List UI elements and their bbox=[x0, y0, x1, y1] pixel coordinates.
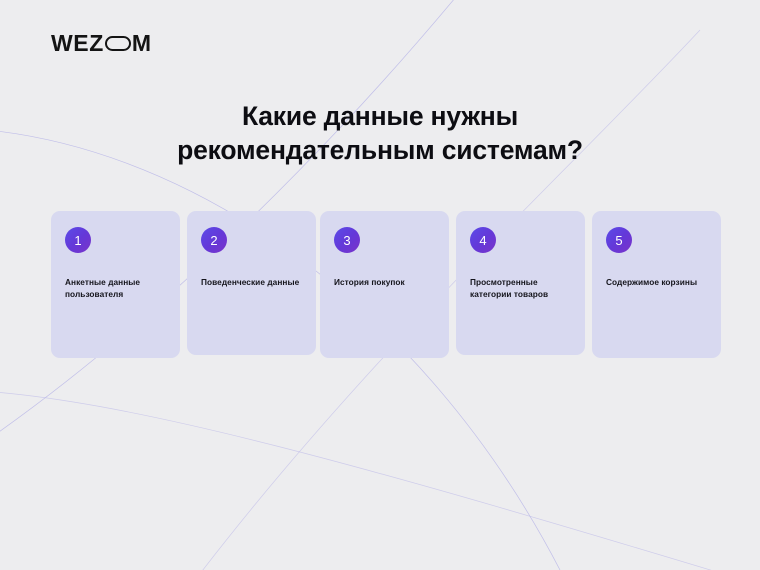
card-4-label: Просмотренные категории товаров bbox=[470, 277, 571, 301]
logo-text-before: WEZ bbox=[51, 32, 104, 55]
card-3-label: История покупок bbox=[334, 277, 435, 289]
card-2[interactable]: 2 Поведенческие данные bbox=[187, 211, 316, 355]
card-5-number-badge: 5 bbox=[606, 227, 632, 253]
page-title: Какие данные нужны рекомендательным сист… bbox=[0, 100, 760, 168]
card-1[interactable]: 1 Анкетные данные пользователя bbox=[51, 211, 180, 358]
card-4[interactable]: 4 Просмотренные категории товаров bbox=[456, 211, 585, 355]
card-3-number-badge: 3 bbox=[334, 227, 360, 253]
card-5-label: Содержимое корзины bbox=[606, 277, 707, 289]
title-line-2: рекомендательным системам? bbox=[0, 134, 760, 168]
logo-wordmark: WEZ M bbox=[51, 32, 152, 55]
card-4-number-badge: 4 bbox=[470, 227, 496, 253]
cards-row: 1 Анкетные данные пользователя 2 Поведен… bbox=[51, 211, 711, 361]
capsule-o-icon bbox=[105, 36, 131, 51]
card-3[interactable]: 3 История покупок bbox=[320, 211, 449, 358]
card-2-number-badge: 2 bbox=[201, 227, 227, 253]
wezom-logo: WEZ M bbox=[51, 31, 152, 55]
card-1-label: Анкетные данные пользователя bbox=[65, 277, 166, 301]
title-line-1: Какие данные нужны bbox=[0, 100, 760, 134]
slide-canvas: WEZ M Какие данные нужны рекомендательны… bbox=[0, 0, 760, 570]
card-2-label: Поведенческие данные bbox=[201, 277, 302, 289]
logo-text-after: M bbox=[132, 32, 152, 55]
curve-arc-4 bbox=[0, 390, 760, 570]
card-5[interactable]: 5 Содержимое корзины bbox=[592, 211, 721, 358]
card-1-number-badge: 1 bbox=[65, 227, 91, 253]
